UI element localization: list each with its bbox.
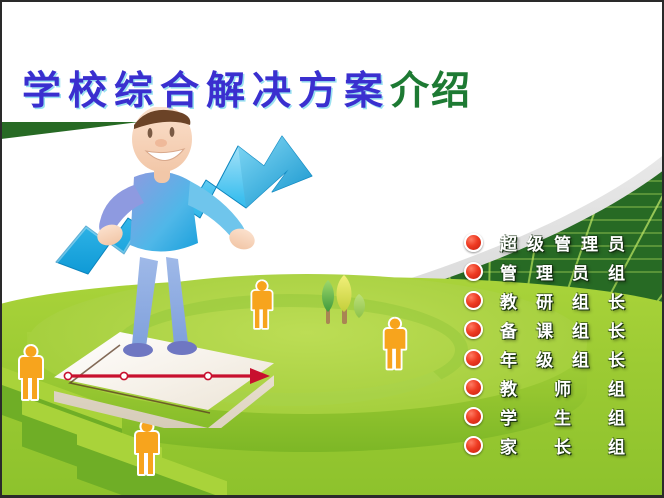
role-list-item[interactable]: 管理员组 bbox=[464, 257, 654, 286]
role-list-item-label: 管理员组 bbox=[500, 259, 625, 284]
page-title: 学校综合解决方案介绍 bbox=[22, 72, 472, 111]
role-list-item-label: 教师组 bbox=[500, 375, 625, 400]
bullet-dot-icon bbox=[464, 407, 483, 426]
bullet-dot-icon bbox=[464, 436, 483, 455]
role-list-item-label: 家长组 bbox=[500, 433, 625, 458]
bullet-dot-icon bbox=[464, 349, 483, 368]
bullet-dot-icon bbox=[464, 320, 483, 339]
role-list-item[interactable]: 学生组 bbox=[464, 402, 654, 431]
red-progress-arrow bbox=[58, 362, 273, 386]
role-list-item-label: 年级组长 bbox=[500, 346, 625, 371]
role-list-item[interactable]: 超级管理员 bbox=[464, 228, 654, 257]
role-list-item[interactable]: 家长组 bbox=[464, 431, 654, 460]
bullet-dot-icon bbox=[464, 262, 483, 281]
role-list-item-label: 备课组长 bbox=[500, 317, 625, 342]
role-list-item-label: 学生组 bbox=[500, 404, 625, 429]
title-part-accent: 介绍 bbox=[390, 69, 472, 114]
person-icon-1 bbox=[14, 342, 48, 408]
bullet-dot-icon bbox=[464, 291, 483, 310]
role-list-item[interactable]: 年级组长 bbox=[464, 344, 654, 373]
cartoon-person bbox=[62, 107, 312, 357]
role-list: 超级管理员管理员组教研组长备课组长年级组长教师组学生组家长组 bbox=[464, 228, 654, 460]
bullet-dot-icon bbox=[464, 378, 483, 397]
role-list-item[interactable]: 教师组 bbox=[464, 373, 654, 402]
role-list-item-label: 超级管理员 bbox=[500, 230, 625, 255]
cartoon-person-svg bbox=[62, 107, 312, 357]
bullet-dot-icon bbox=[464, 233, 483, 252]
person-icon-4 bbox=[379, 314, 411, 378]
role-list-item[interactable]: 备课组长 bbox=[464, 315, 654, 344]
role-list-item[interactable]: 教研组长 bbox=[464, 286, 654, 315]
presentation-slide: 0100101001000101010010101001010001010010… bbox=[0, 0, 664, 498]
role-list-item-label: 教研组长 bbox=[500, 288, 625, 313]
title-part-primary: 学校综合解决方案 bbox=[22, 69, 390, 114]
